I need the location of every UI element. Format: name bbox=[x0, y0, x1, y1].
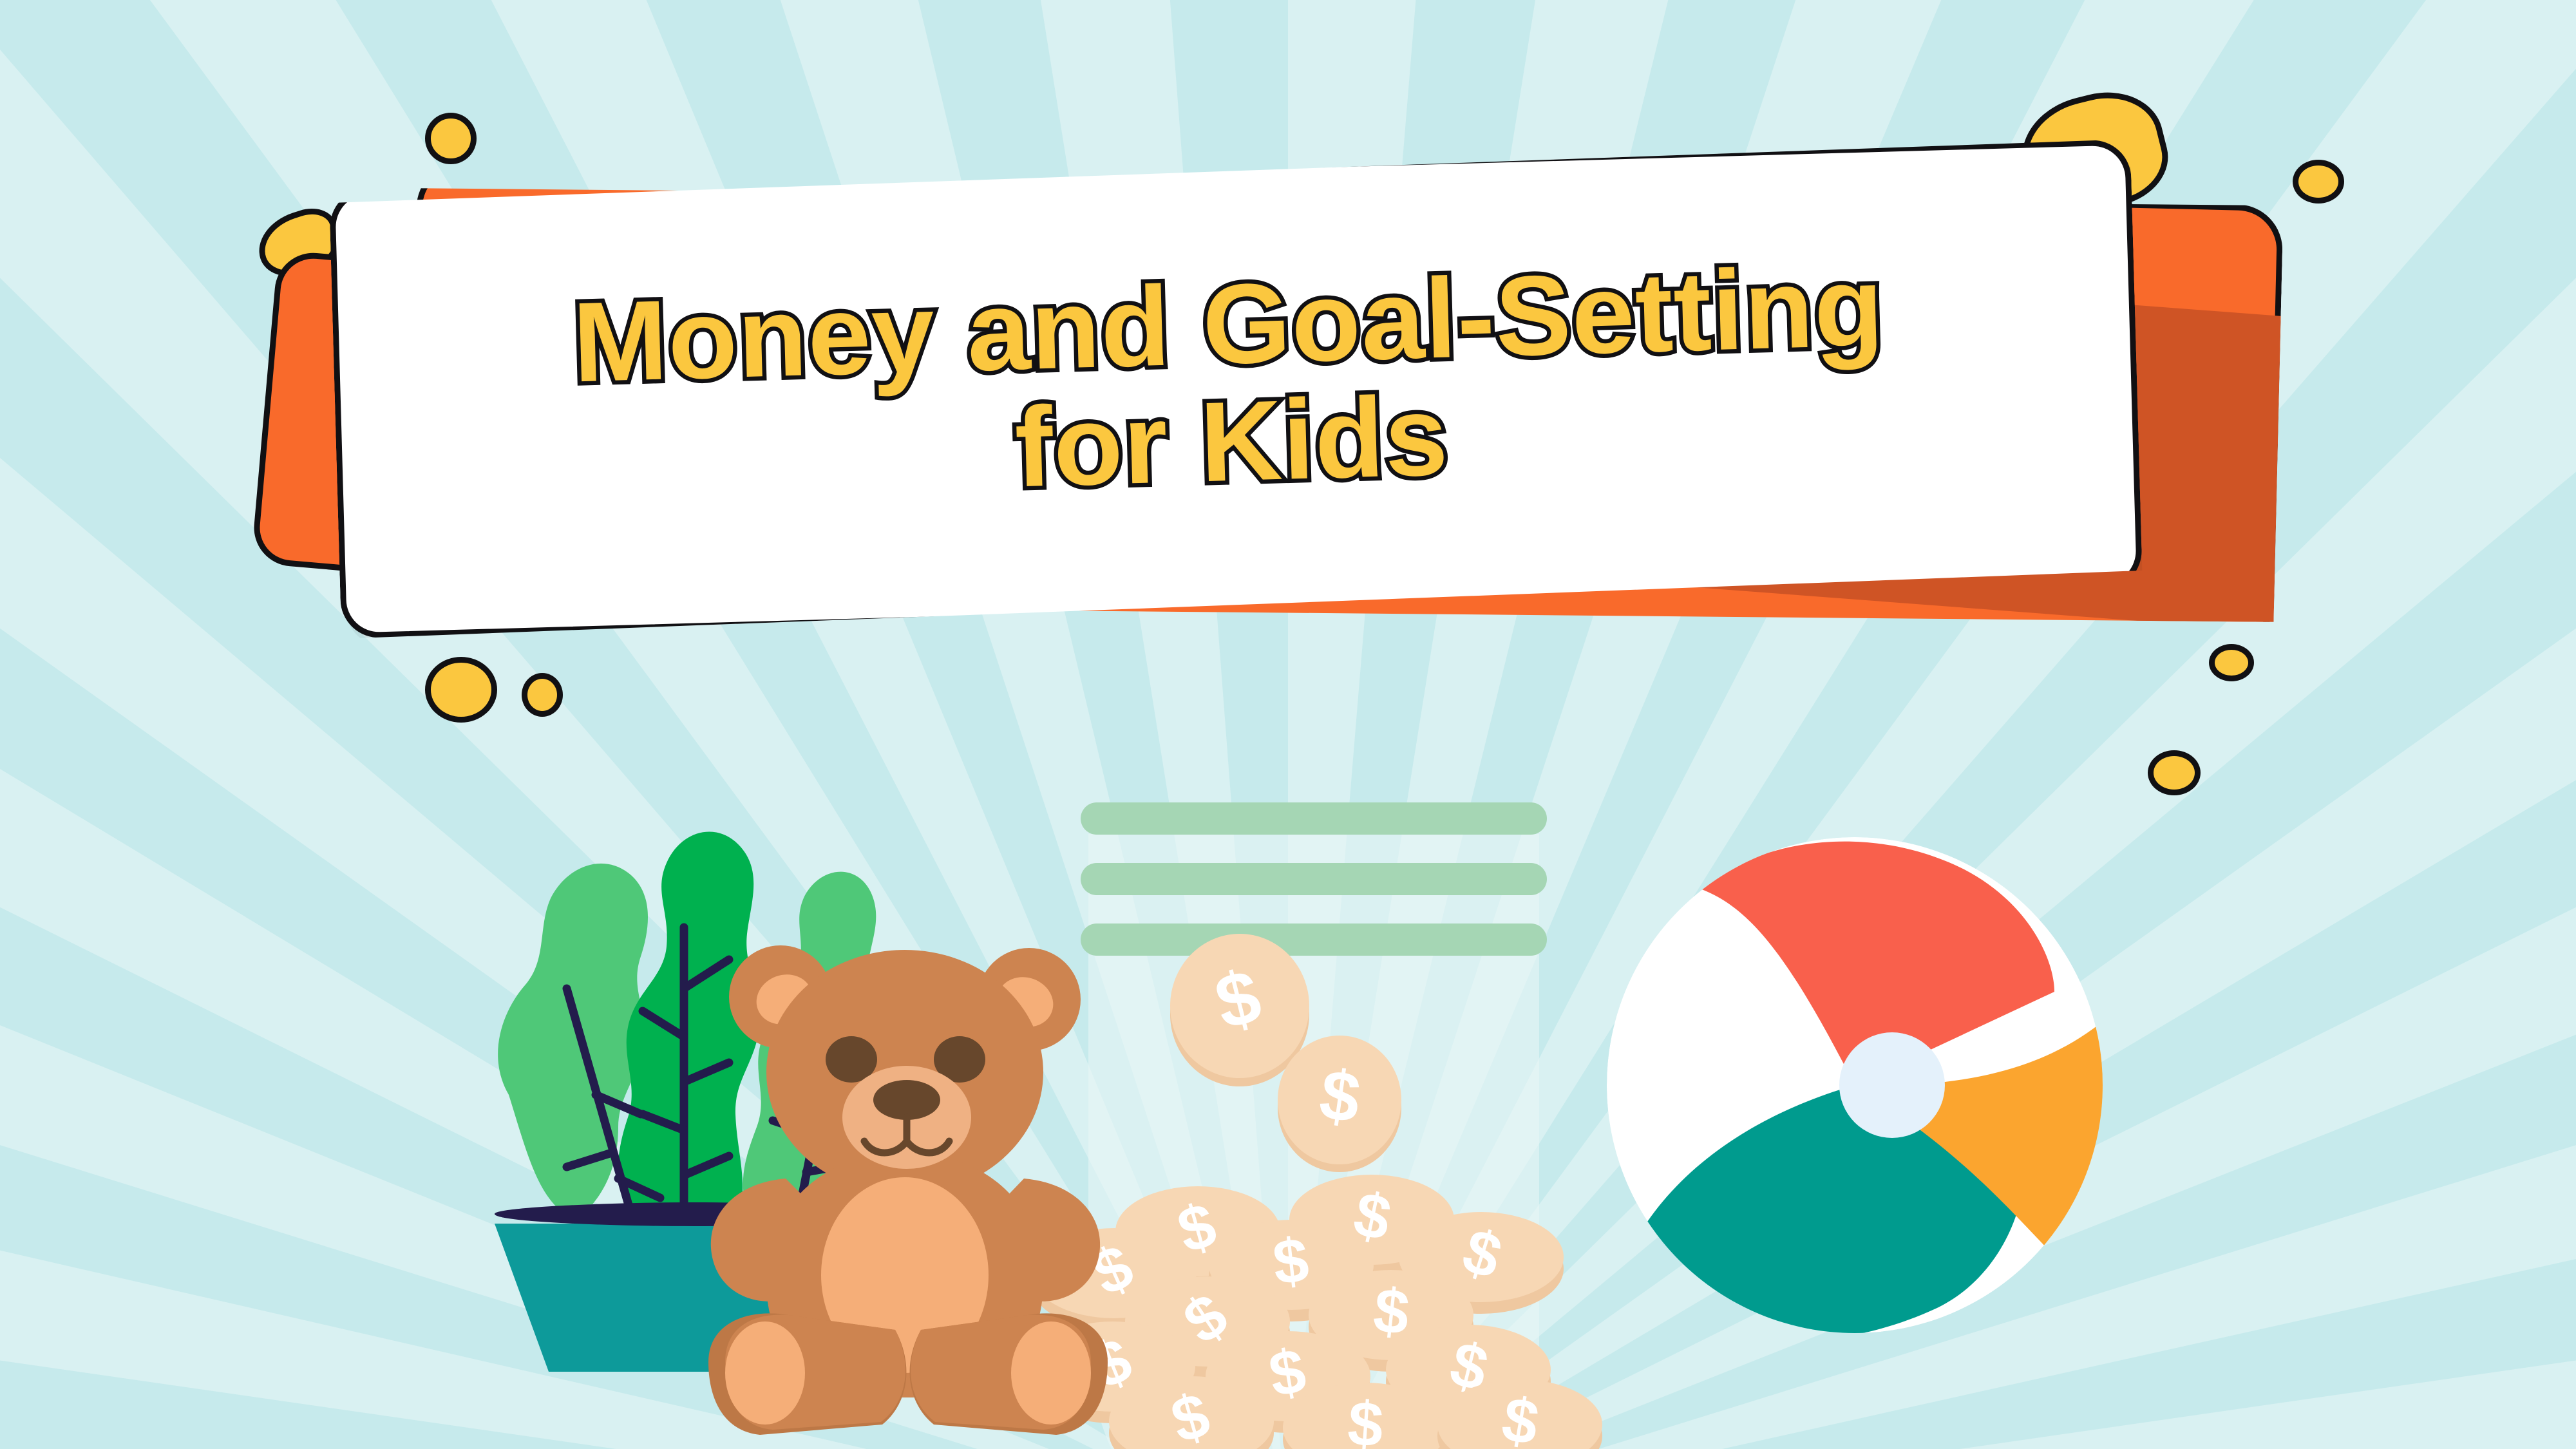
svg-text:$: $ bbox=[1345, 1387, 1385, 1449]
blob-right-low bbox=[2148, 750, 2201, 795]
ball-hub bbox=[1839, 1032, 1945, 1138]
jar-band-2 bbox=[1081, 863, 1547, 895]
bear-footpad-left bbox=[725, 1321, 805, 1425]
bear-footpad-right bbox=[1011, 1321, 1091, 1425]
jar-floating-coin-1: $ bbox=[1170, 934, 1309, 1086]
svg-text:$: $ bbox=[1370, 1274, 1413, 1348]
illustration-canvas: $ $ $ $ $ $ $ $ $ $ $ $ $ $ $ bbox=[0, 0, 2576, 1449]
beach-ball bbox=[1604, 831, 2106, 1340]
coin-jar: $ $ $ $ $ $ $ $ $ $ $ $ $ $ $ bbox=[1069, 799, 1558, 1449]
jar-band-1 bbox=[1081, 802, 1547, 835]
blob-left-tiny bbox=[522, 673, 563, 717]
blob-right-small bbox=[2293, 160, 2344, 204]
page-title-line-2: for Kids bbox=[1014, 379, 1450, 505]
page-title-line-1: Money and Goal-Setting bbox=[571, 250, 1885, 400]
jar-band-3 bbox=[1081, 923, 1547, 956]
banner-title-block: Money and Goal-Setting for Kids bbox=[329, 139, 2131, 627]
teddy-bear bbox=[683, 940, 1133, 1449]
blob-top-left-small bbox=[425, 113, 477, 164]
jar-floating-coin-2: $ bbox=[1278, 1036, 1401, 1172]
svg-text:$: $ bbox=[1270, 1224, 1312, 1298]
blob-left-oval bbox=[425, 657, 497, 723]
title-banner: Money and Goal-Setting for Kids bbox=[335, 164, 2267, 641]
blob-right-dot bbox=[2209, 644, 2254, 681]
